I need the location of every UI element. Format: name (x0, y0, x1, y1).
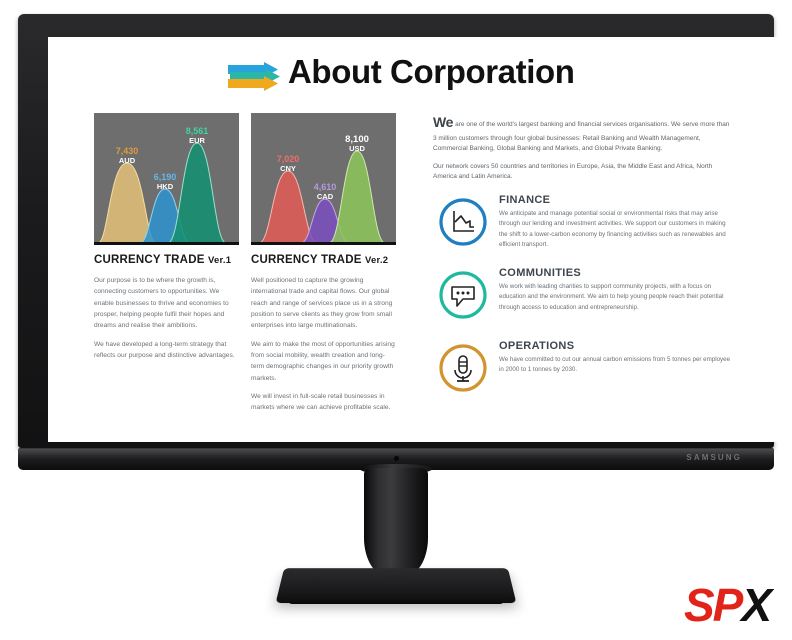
double-arrow-logo-icon (226, 61, 282, 95)
intro-lead-word: We (433, 114, 453, 130)
chart2-label-cat-2: USD (349, 144, 365, 153)
chart-1-title-main: CURRENCY TRADE (94, 254, 205, 266)
feature-operations-heading: OPERATIONS (499, 340, 733, 352)
feature-operations: OPERATIONS We have committed to cut our … (433, 340, 733, 402)
slide-title: About Corporation (288, 53, 574, 91)
intro-paragraph-1-text: are one of the world's largest banking a… (433, 121, 729, 152)
chart-2-paragraph-2: We aim to make the most of opportunities… (251, 339, 396, 384)
feature-finance: FINANCE We anticipate and manage potenti… (433, 194, 733, 256)
chart1-label-value-0: 7,430 (116, 146, 139, 156)
intro-block: Weare one of the world's largest banking… (433, 111, 733, 183)
chart2-axis (251, 242, 396, 245)
presentation-slide: About Corporation 7,430 AUD (48, 37, 780, 442)
chart-2-body: Well positioned to capture the growing i… (251, 275, 396, 414)
feature-operations-body: We have committed to cut our annual carb… (499, 355, 733, 376)
chart1-label-cat-1: HKD (157, 182, 174, 191)
monitor-device: About Corporation 7,430 AUD (0, 0, 792, 640)
chart1-label-value-2: 8,561 (186, 126, 209, 136)
speech-bubble-circle-icon (437, 269, 489, 321)
chart2-label-cat-1: CAD (317, 192, 334, 201)
chart2-label-value-0: 7,020 (277, 154, 300, 164)
feature-communities-heading: COMMUNITIES (499, 267, 733, 279)
chart-2-paragraph-1: Well positioned to capture the growing i… (251, 275, 396, 332)
intro-paragraph-1: Weare one of the world's largest banking… (433, 111, 733, 155)
chart-2-title: CURRENCY TRADE Ver.2 (251, 254, 396, 266)
chart2-label-value-1: 4,610 (314, 182, 337, 192)
chart-2-title-version: Ver.2 (365, 255, 388, 266)
chart1-label-value-1: 6,190 (154, 172, 177, 182)
spx-logo-x: X (741, 579, 770, 631)
slide-right-column: Weare one of the world's largest banking… (433, 111, 733, 402)
chart-2-title-main: CURRENCY TRADE (251, 254, 362, 266)
spx-logo-sp: SP (684, 579, 741, 631)
chart-2-paragraph-3: We will invest in full-scale retail busi… (251, 391, 396, 414)
monitor-brand-label: SAMSUNG (686, 453, 742, 462)
monitor-stand-neck (364, 468, 428, 578)
microphone-circle-icon (437, 342, 489, 394)
spx-watermark-logo: SPX (684, 578, 770, 632)
feature-finance-body: We anticipate and manage potential socia… (499, 209, 733, 251)
slide-header: About Corporation (48, 47, 780, 95)
chart-1-title-version: Ver.1 (208, 255, 231, 266)
currency-chart-2: 7,020 CNY 4,610 CAD 8,100 USD (251, 113, 396, 245)
chart-1-paragraph-1: Our purpose is to be where the growth is… (94, 275, 239, 332)
line-chart-circle-icon (437, 196, 489, 248)
chart2-label-cat-0: CNY (280, 164, 296, 173)
feature-communities: COMMUNITIES We work with leading chariti… (433, 267, 733, 329)
monitor-stand-base-edge (288, 596, 504, 604)
chart-1-body: Our purpose is to be where the growth is… (94, 275, 239, 361)
chart1-label-cat-0: AUD (119, 156, 136, 165)
chart-1-paragraph-2: We have developed a long-term strategy t… (94, 339, 239, 362)
chart1-label-cat-2: EUR (189, 136, 205, 145)
currency-chart-1: 7,430 AUD 6,190 HKD 8,561 EUR (94, 113, 239, 245)
chart-1-title: CURRENCY TRADE Ver.1 (94, 254, 239, 266)
chart1-axis (94, 242, 239, 245)
power-led-indicator[interactable] (394, 456, 399, 461)
feature-communities-body: We work with leading charities to suppor… (499, 282, 733, 313)
intro-paragraph-2: Our network covers 50 countries and terr… (433, 162, 733, 183)
feature-finance-heading: FINANCE (499, 194, 733, 206)
currency-trade-card-2: 7,020 CNY 4,610 CAD 8,100 USD CURRENCY T… (251, 113, 396, 421)
monitor-bezel: About Corporation 7,430 AUD (18, 14, 774, 448)
currency-trade-card-1: 7,430 AUD 6,190 HKD 8,561 EUR CURRENCY T… (94, 113, 239, 368)
monitor-screen: About Corporation 7,430 AUD (48, 37, 780, 442)
